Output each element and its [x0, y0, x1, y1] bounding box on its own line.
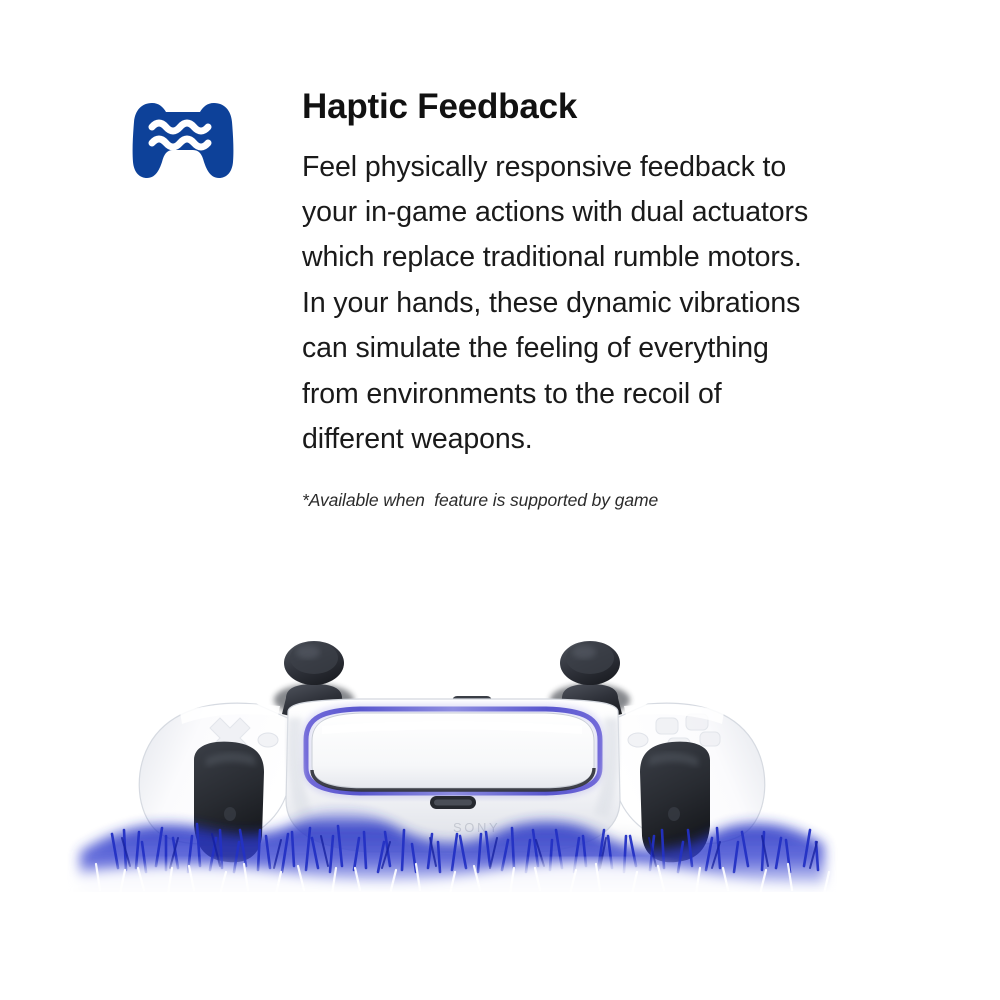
body-line: different weapons. — [302, 417, 922, 462]
body-line: from environments to the recoil of — [302, 372, 922, 417]
body-line: In your hands, these dynamic vibrations — [302, 281, 922, 326]
page-root: Haptic Feedback Feel physically responsi… — [0, 0, 1000, 1000]
feature-text-column: Haptic Feedback Feel physically responsi… — [302, 88, 922, 511]
feature-body: Feel physically responsive feedback to y… — [302, 145, 922, 463]
body-line: which replace traditional rumble motors. — [302, 235, 922, 280]
usb-c-port — [430, 796, 476, 809]
options-button — [628, 733, 648, 747]
controller-illustration: SONY — [60, 600, 940, 900]
body-line: can simulate the feeling of everything — [302, 326, 922, 371]
feature-footnote: *Available when feature is supported by … — [302, 490, 922, 511]
share-button — [258, 733, 278, 747]
haptic-controller-icon — [128, 98, 238, 180]
sony-wordmark: SONY — [453, 820, 500, 835]
body-line: Feel physically responsive feedback to — [302, 145, 922, 190]
feature-title: Haptic Feedback — [302, 88, 922, 127]
body-line: your in-game actions with dual actuators — [302, 190, 922, 235]
ps5-dualsense-controller-photo: SONY — [60, 600, 940, 900]
